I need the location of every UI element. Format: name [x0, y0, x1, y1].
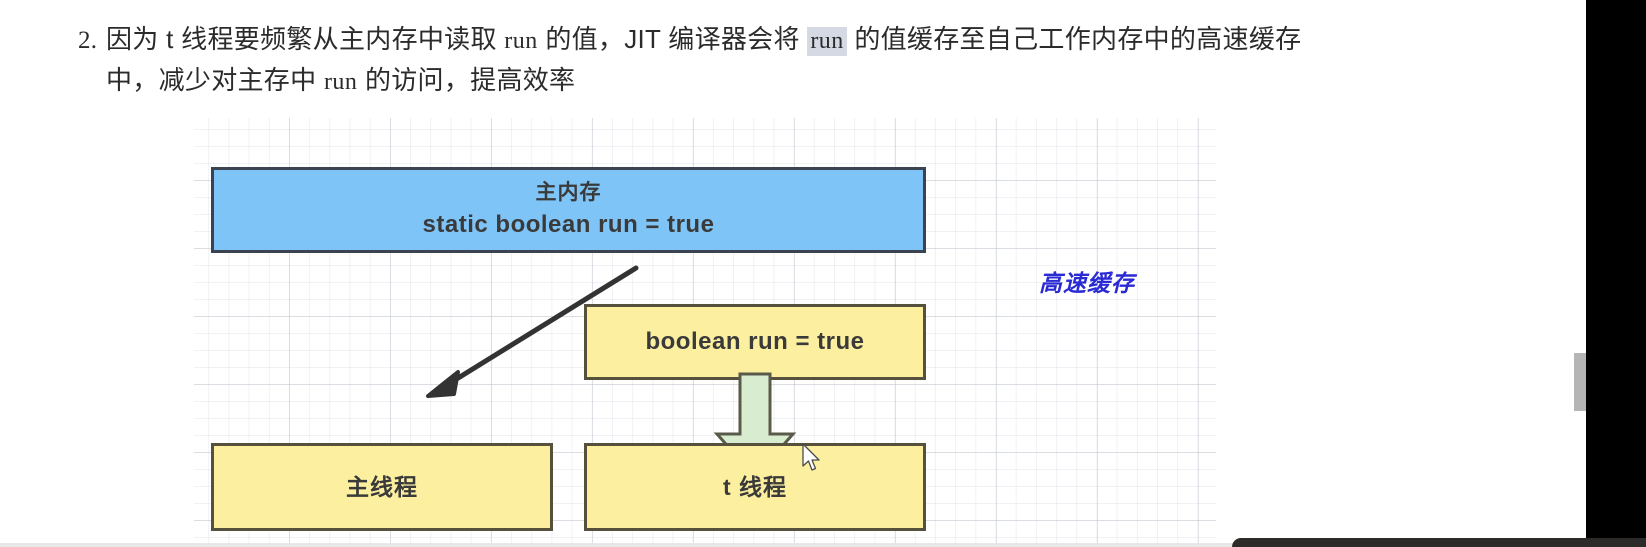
note-line-1: 2.因为 t 线程要频繁从主内存中读取 run 的值，JIT 编译器会将 run…	[78, 20, 1308, 61]
list-marker: 2.	[78, 21, 106, 60]
cache-label: boolean run = true	[645, 326, 864, 358]
note-line-2: 中，减少对主存中 run 的访问，提高效率	[78, 61, 1308, 102]
note-line1-text-c: 的值缓存至自己工作内存中的高速缓存	[847, 24, 1302, 54]
vertical-scrollbar-thumb[interactable]	[1574, 353, 1586, 411]
note-line2-text-a: 中，减少对主存中	[106, 65, 324, 95]
t-thread-node: t 线程	[584, 443, 926, 531]
bottom-overlay-bar[interactable]	[1232, 538, 1646, 547]
inline-code-run-2: run	[324, 69, 358, 95]
cache-node: boolean run = true	[584, 304, 926, 380]
main-memory-node: 主内存 static boolean run = true	[211, 167, 926, 253]
main-thread-label: 主线程	[346, 472, 418, 503]
memory-model-diagram: 主内存 static boolean run = true boolean ru…	[194, 118, 1216, 547]
document-page: 2.因为 t 线程要频繁从主内存中读取 run 的值，JIT 编译器会将 run…	[0, 0, 1586, 547]
note-line1-text-b: 的值，JIT 编译器会将	[538, 24, 808, 54]
main-memory-title: 主内存	[536, 179, 602, 207]
note-paragraph: 2.因为 t 线程要频繁从主内存中读取 run 的值，JIT 编译器会将 run…	[78, 20, 1308, 102]
main-thread-node: 主线程	[211, 443, 553, 531]
mouse-cursor-icon	[802, 443, 822, 473]
note-line1-text-a: 因为 t 线程要频繁从主内存中读取	[106, 24, 504, 54]
inline-code-run-1: run	[504, 28, 538, 54]
vertical-scrollbar-track[interactable]	[1571, 0, 1586, 538]
inline-code-run-highlighted: run	[807, 27, 847, 56]
t-thread-label: t 线程	[723, 472, 787, 503]
note-line2-text-b: 的访问，提高效率	[357, 65, 575, 95]
main-memory-code: static boolean run = true	[423, 209, 715, 241]
cache-annotation-label: 高速缓存	[1039, 264, 1135, 298]
right-black-panel	[1586, 0, 1646, 547]
